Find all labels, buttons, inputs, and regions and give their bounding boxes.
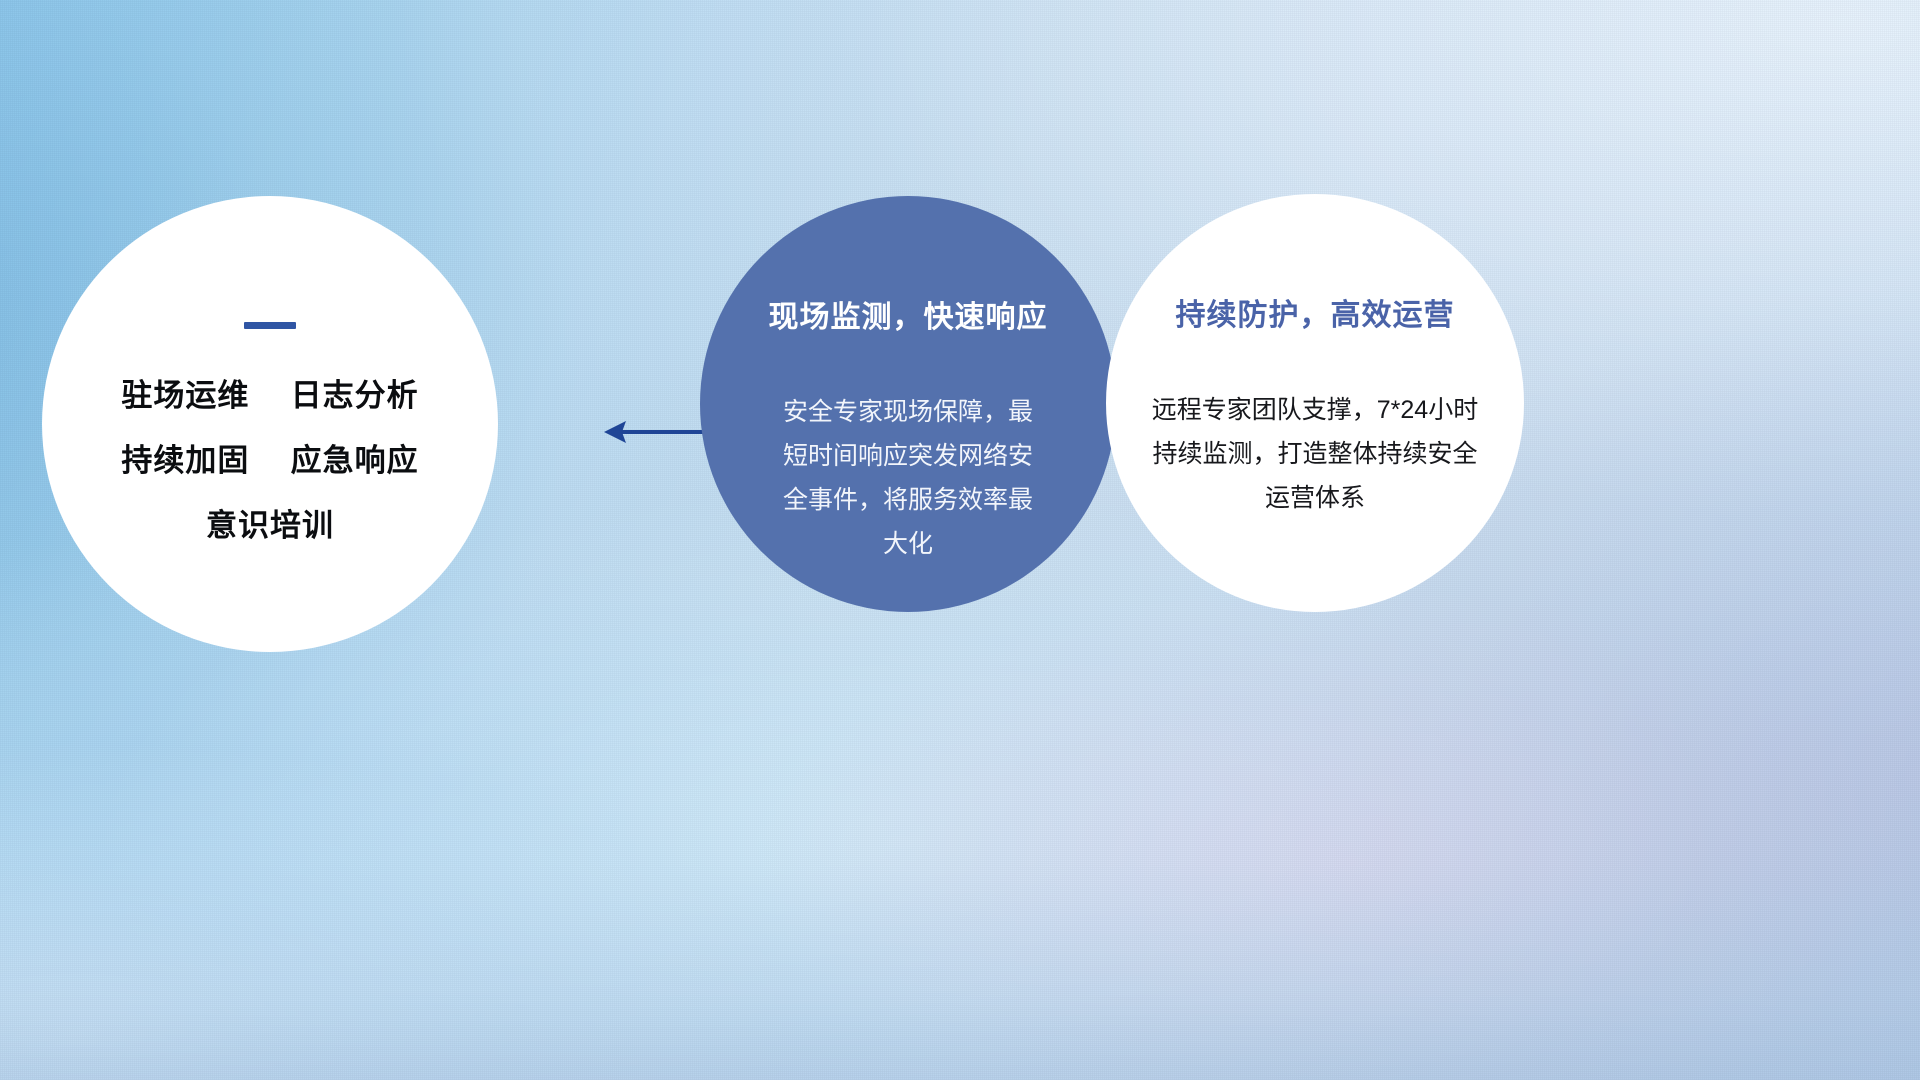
card-body-text: 远程专家团队支撑，7*24小时持续监测，打造整体持续安全运营体系 (1143, 388, 1487, 520)
list-item: 驻场运维 日志分析 (42, 363, 498, 428)
title-divider-rule (244, 322, 296, 329)
list-item: 持续加固 应急响应 (42, 428, 498, 493)
capability-keyword: 意识培训 (206, 508, 334, 543)
capability-keyword-list: 驻场运维 日志分析 持续加固 应急响应 意识培训 (42, 363, 498, 558)
continuous-protection-card[interactable]: 持续防护，高效运营 远程专家团队支撑，7*24小时持续监测，打造整体持续安全运营… (1106, 194, 1524, 612)
capability-keyword: 持续加固 (121, 443, 249, 478)
onsite-monitoring-card[interactable]: 现场监测，快速响应 安全专家现场保障，最短时间响应突发网络安全事件，将服务效率最… (700, 196, 1116, 612)
list-item: 意识培训 (42, 493, 498, 558)
capability-keyword: 应急响应 (291, 443, 419, 478)
capabilities-circle[interactable]: 驻场运维 日志分析 持续加固 应急响应 意识培训 (42, 196, 498, 652)
capability-keyword: 日志分析 (291, 378, 419, 413)
slide-canvas: 驻场运维 日志分析 持续加固 应急响应 意识培训 现场监测，快速响应 安全专家现… (0, 0, 1920, 1080)
card-title: 现场监测，快速响应 (769, 292, 1048, 336)
card-title: 持续防护，高效运营 (1176, 290, 1455, 334)
card-body-text: 安全专家现场保障，最短时间响应突发网络安全事件，将服务效率最大化 (772, 390, 1044, 566)
capability-keyword: 驻场运维 (121, 378, 249, 413)
